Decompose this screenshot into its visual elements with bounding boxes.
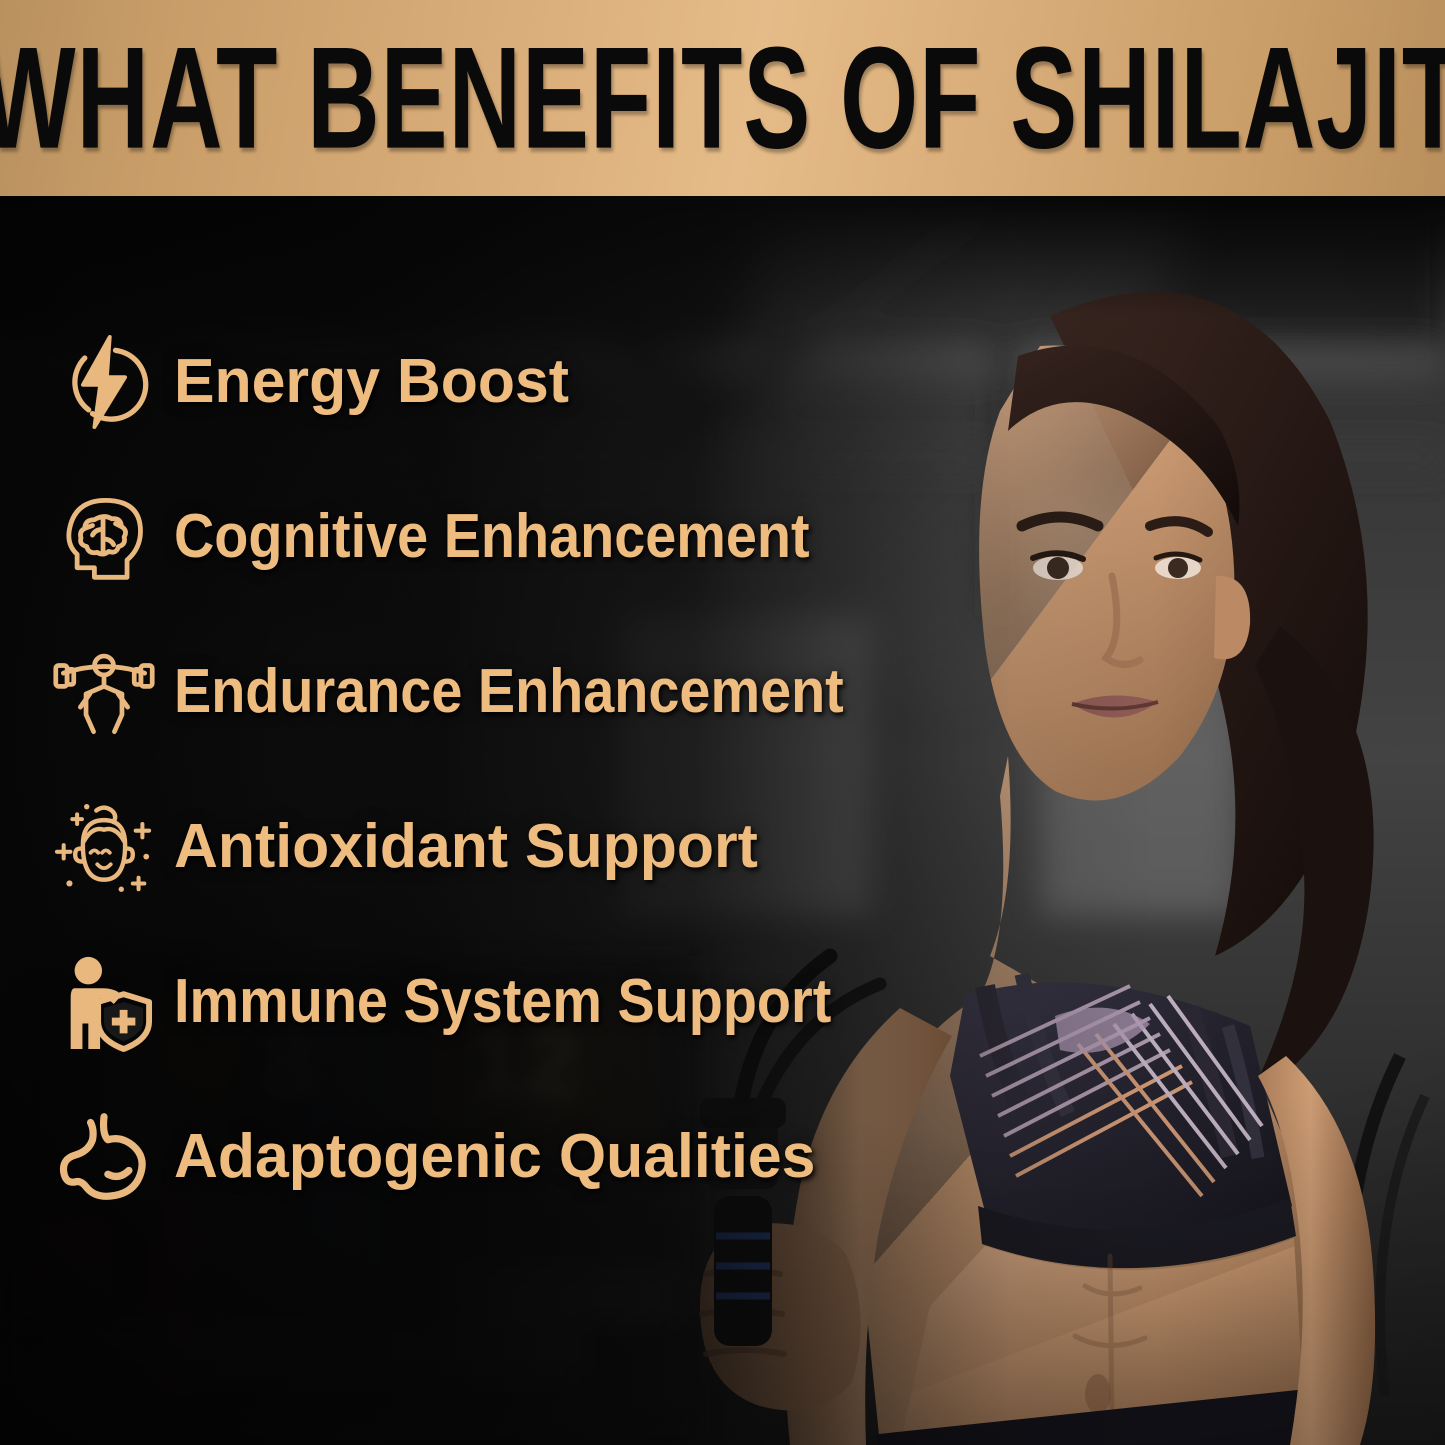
benefit-label: Energy Boost: [174, 351, 569, 413]
page-title: WHAT BENEFITS OF SHILAJIT: [0, 26, 1445, 171]
header-banner: WHAT BENEFITS OF SHILAJIT: [0, 0, 1445, 196]
benefit-item-endurance-enhancement: Endurance Enhancement: [0, 614, 1445, 769]
benefit-item-antioxidant-support: Antioxidant Support: [0, 769, 1445, 924]
glowing-face-sparkle-icon: [44, 792, 164, 902]
benefit-label: Immune System Support: [174, 971, 831, 1033]
benefit-item-immune-system-support: Immune System Support: [0, 924, 1445, 1079]
benefit-item-energy-boost: Energy Boost: [0, 304, 1445, 459]
lightning-bolt-circle-icon: [44, 327, 164, 437]
benefit-item-cognitive-enhancement: Cognitive Enhancement: [0, 459, 1445, 614]
stomach-icon: [44, 1102, 164, 1212]
head-brain-icon: [44, 482, 164, 592]
benefit-label: Adaptogenic Qualities: [174, 1126, 815, 1188]
infographic-poster: WHAT BENEFITS OF SHILAJIT: [0, 0, 1445, 1445]
weightlifter-barbell-icon: [44, 637, 164, 747]
benefit-label: Endurance Enhancement: [174, 661, 844, 723]
person-shield-cross-icon: [44, 947, 164, 1057]
benefits-list: Energy Boost Cognitive Enhancement: [0, 196, 1445, 1445]
benefit-label: Cognitive Enhancement: [174, 506, 810, 568]
benefit-label: Antioxidant Support: [174, 816, 758, 878]
benefit-item-adaptogenic-qualities: Adaptogenic Qualities: [0, 1079, 1445, 1234]
